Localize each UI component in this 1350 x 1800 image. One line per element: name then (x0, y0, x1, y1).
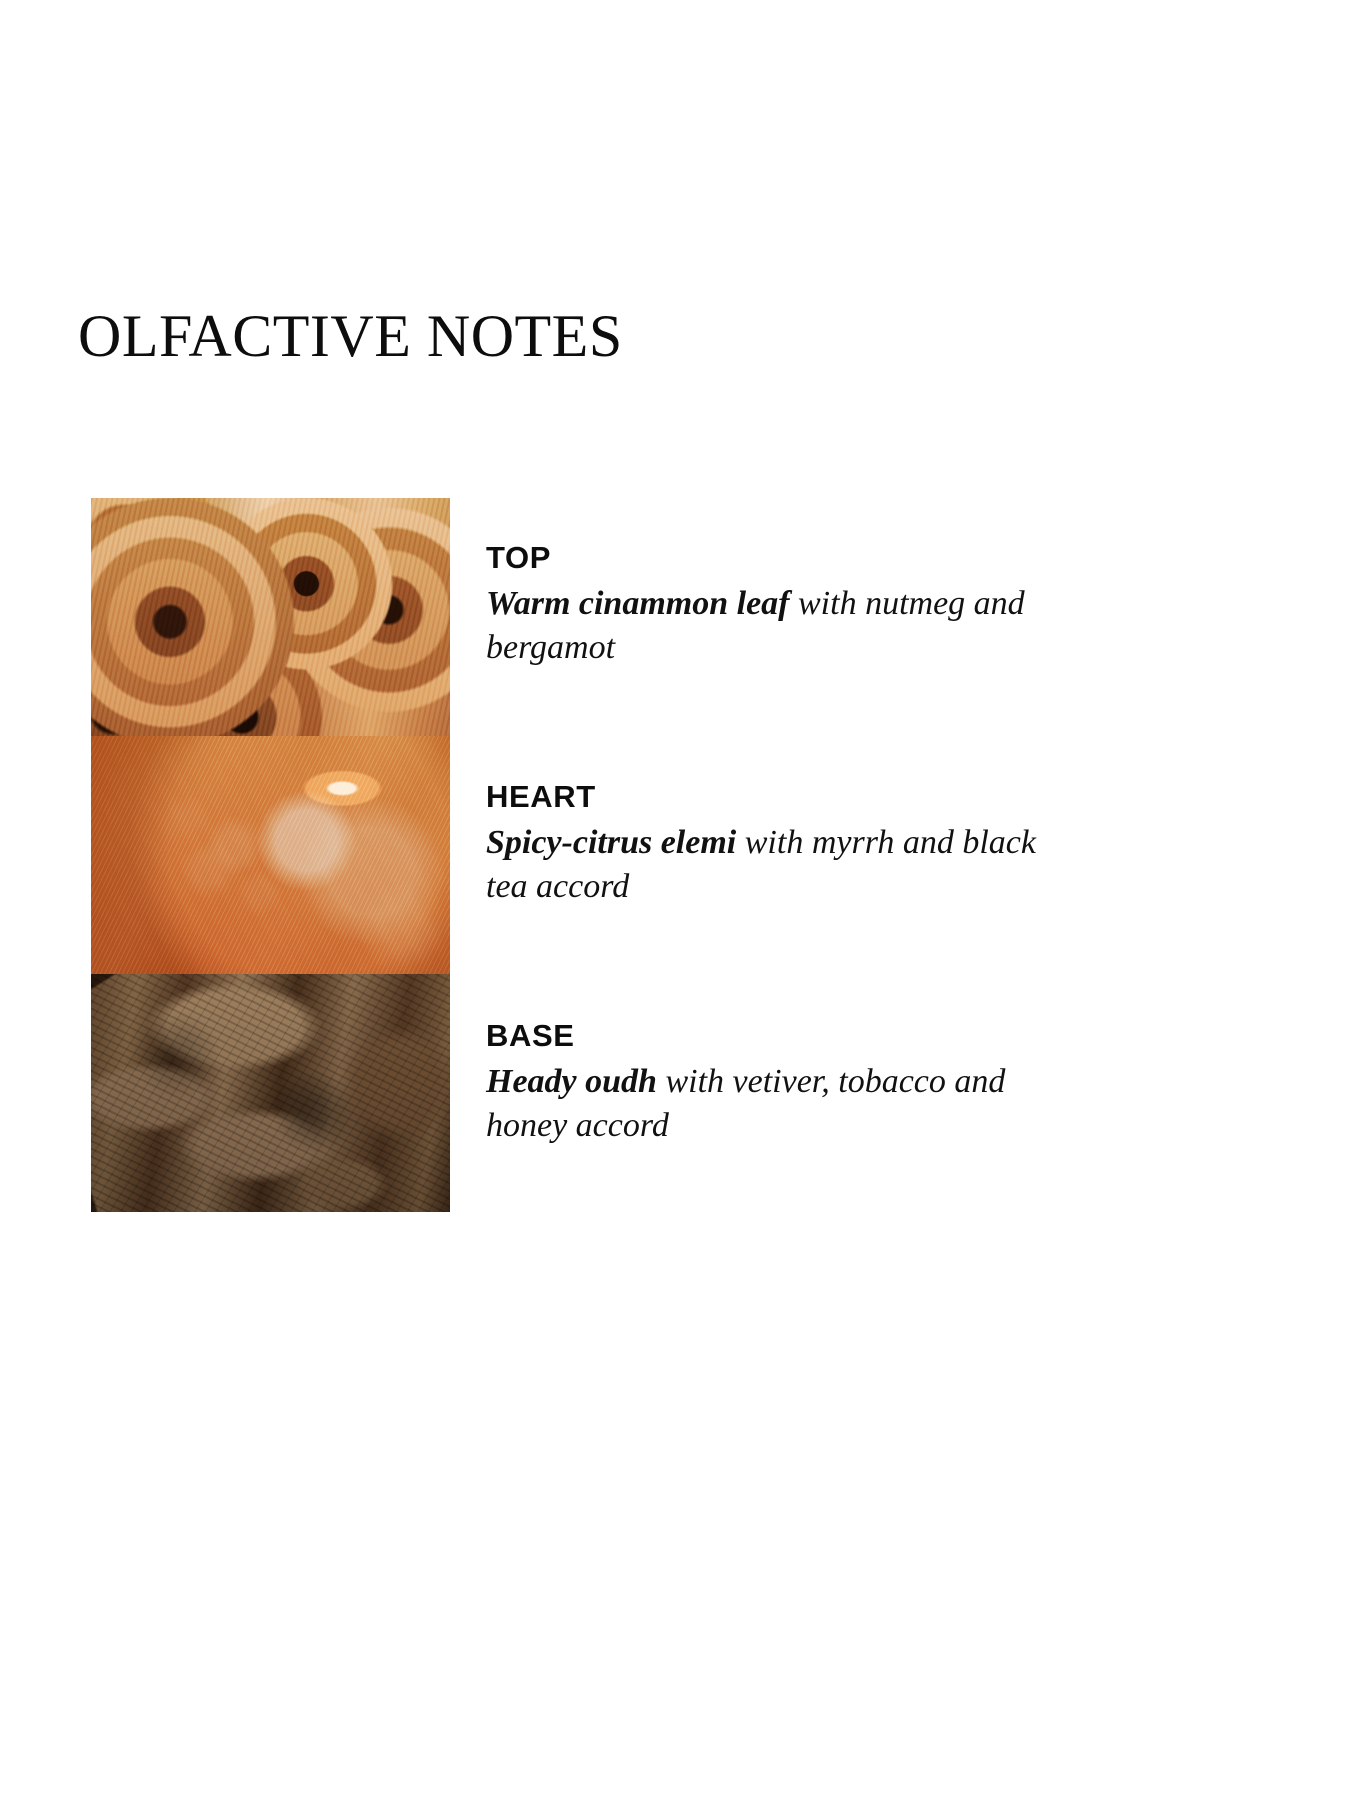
base-note-image (91, 974, 450, 1212)
note-entry-base: BASE Heady oudh with vetiver, tobacco an… (486, 1020, 1126, 1148)
note-description-top: Warm cinammon leaf with nutmeg and berga… (486, 582, 1046, 670)
note-accent-top: Warm cinammon leaf (486, 585, 790, 622)
note-label-top: TOP (486, 542, 1126, 573)
note-description-heart: Spicy-citrus elemi with myrrh and black … (486, 821, 1046, 909)
top-note-image (91, 498, 450, 736)
note-label-heart: HEART (486, 781, 1126, 812)
amber-resin-texture (91, 736, 450, 974)
note-accent-base: Heady oudh (486, 1063, 657, 1100)
olfactive-notes-page: OLFACTIVE NOTES TOP Warm cinammon leaf w… (0, 0, 1350, 1800)
note-entry-top: TOP Warm cinammon leaf with nutmeg and b… (486, 542, 1126, 670)
note-entry-heart: HEART Spicy-citrus elemi with myrrh and … (486, 781, 1126, 909)
cinnamon-quills-texture (91, 498, 450, 736)
note-image-strip (91, 498, 450, 1212)
heart-note-image (91, 736, 450, 974)
tree-bark-texture (91, 974, 450, 1212)
note-label-base: BASE (486, 1020, 1126, 1051)
note-description-base: Heady oudh with vetiver, tobacco and hon… (486, 1060, 1046, 1148)
note-accent-heart: Spicy-citrus elemi (486, 824, 736, 861)
page-title: OLFACTIVE NOTES (78, 305, 623, 368)
